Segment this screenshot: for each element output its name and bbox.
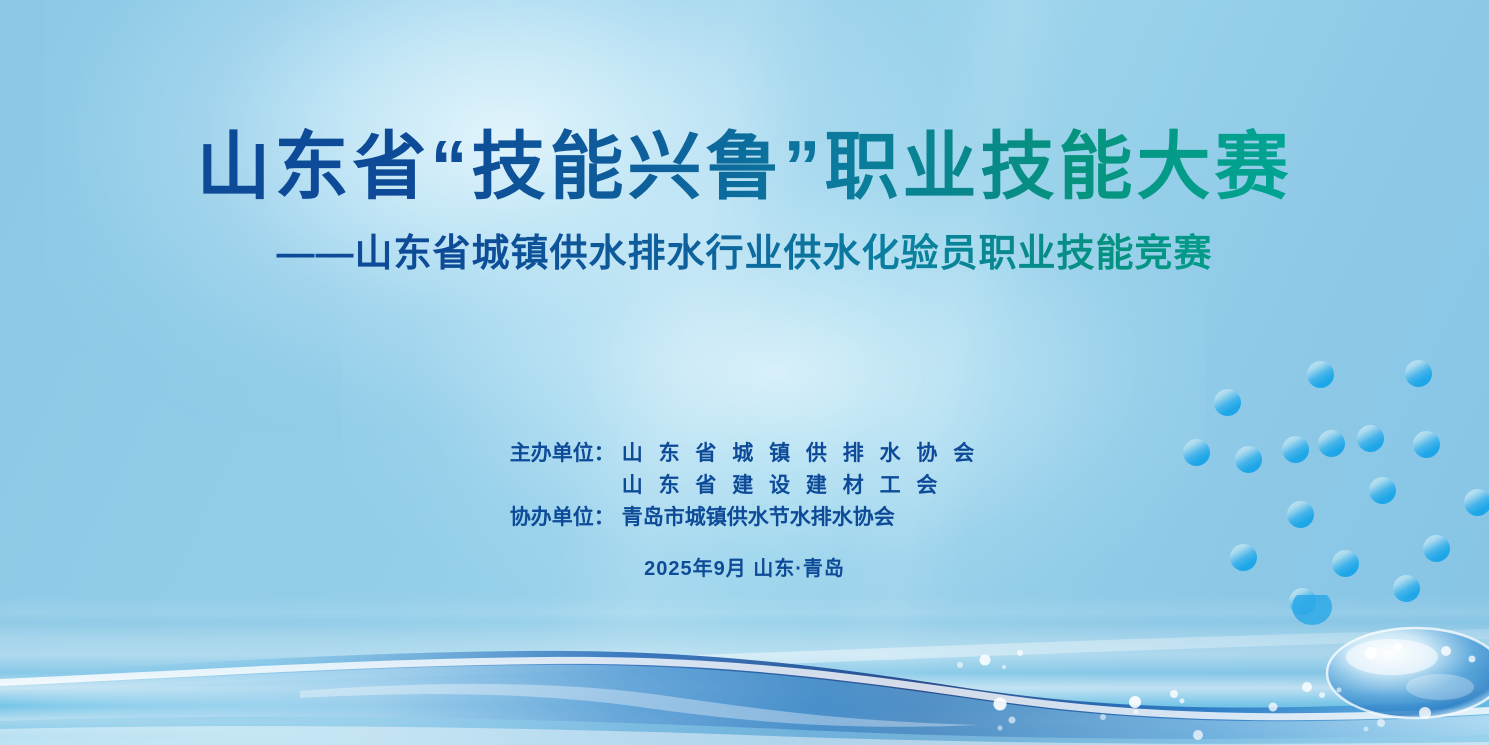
organizer-row: 山 东 省 建 设 建 材 工 会 (510, 470, 980, 502)
organizer-name: 青岛市城镇供水节水排水协会 (622, 502, 895, 534)
organizer-name: 山 东 省 城 镇 供 排 水 协 会 (622, 438, 980, 470)
organizer-row: 协办单位：青岛市城镇供水节水排水协会 (510, 502, 980, 534)
organizer-list: 主办单位：山 东 省 城 镇 供 排 水 协 会山 东 省 建 设 建 材 工 … (510, 438, 980, 534)
date-location-line: 2025年9月 山东·青岛 (0, 552, 1489, 581)
page-title: 山东省“技能兴鲁”职业技能大赛 (0, 128, 1489, 206)
falling-droplet (1292, 595, 1332, 625)
large-water-droplet (1327, 628, 1489, 718)
poster-canvas: 山东省“技能兴鲁”职业技能大赛 ——山东省城镇供水排水行业供水化验员职业技能竞赛… (0, 0, 1489, 745)
headline-block: 山东省“技能兴鲁”职业技能大赛 ——山东省城镇供水排水行业供水化验员职业技能竞赛 (0, 128, 1489, 277)
water-wave-svg (0, 595, 1489, 745)
water-wave-graphic (0, 595, 1489, 745)
page-subtitle: ——山东省城镇供水排水行业供水化验员职业技能竞赛 (0, 222, 1489, 277)
organizer-block: 主办单位：山 东 省 城 镇 供 排 水 协 会山 东 省 建 设 建 材 工 … (0, 438, 1489, 581)
organizer-label: 协办单位： (510, 502, 622, 534)
organizer-row: 主办单位：山 东 省 城 镇 供 排 水 协 会 (510, 438, 980, 470)
organizer-name: 山 东 省 建 设 建 材 工 会 (622, 470, 943, 502)
organizer-label: 主办单位： (510, 438, 622, 470)
